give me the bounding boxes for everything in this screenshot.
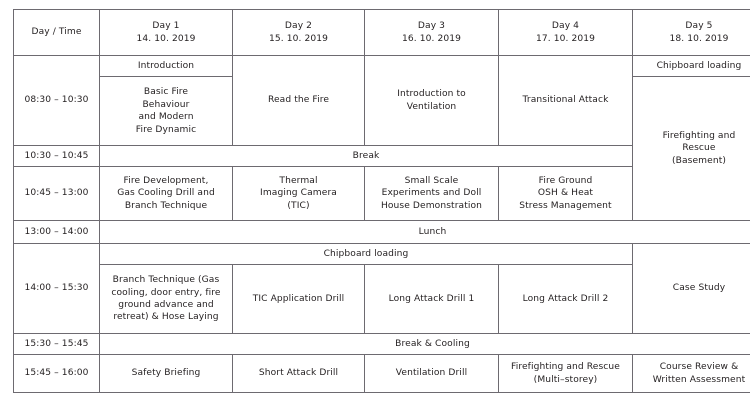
- row-1545-1600: 15:45 – 16:00 Safety Briefing Short Atta…: [14, 355, 750, 393]
- cell-text: Case Study: [673, 283, 725, 293]
- cell-day1-safety-briefing: Safety Briefing: [100, 355, 233, 393]
- schedule-container: Day / Time Day 1 14. 10. 2019 Day 2 15. …: [13, 9, 737, 393]
- cell-day3-small-scale-experiments: Small ScaleExperiments and DollHouse Dem…: [365, 167, 499, 221]
- day-3-name: Day 3: [368, 20, 495, 32]
- day-1-name: Day 1: [103, 20, 229, 32]
- cell-day2-thermal-imaging-camera: ThermalImaging Camera(TIC): [233, 167, 365, 221]
- cell-day4-long-attack-drill-2: Long Attack Drill 2: [499, 264, 633, 333]
- training-schedule-table: Day / Time Day 1 14. 10. 2019 Day 2 15. …: [13, 9, 750, 393]
- header-day-5: Day 5 18. 10. 2019: [633, 10, 750, 56]
- time-label: 14:00 – 15:30: [24, 283, 88, 293]
- cell-text: Chipboard loading: [657, 61, 742, 71]
- cell-text: Introduction toVentilation: [397, 89, 466, 111]
- row-lunch-1300-1400: 13:00 – 14:00 Lunch: [14, 220, 750, 243]
- cell-text: Course Review &Written Assessment: [653, 362, 746, 384]
- cell-day2-short-attack-drill: Short Attack Drill: [233, 355, 365, 393]
- cell-chipboard-loading-pm: Chipboard loading: [100, 243, 633, 264]
- cell-text: Chipboard loading: [324, 249, 409, 259]
- cell-text: Fire Development,Gas Cooling Drill andBr…: [117, 176, 215, 211]
- time-label: 15:45 – 16:00: [24, 368, 88, 378]
- time-label: 10:30 – 10:45: [24, 151, 88, 161]
- cell-day3-introduction-to-ventilation: Introduction toVentilation: [365, 56, 499, 146]
- cell-text: Break: [353, 151, 380, 161]
- time-lunch-1300-1400: 13:00 – 14:00: [14, 220, 100, 243]
- day-5-date: 18. 10. 2019: [636, 33, 750, 45]
- day-2-name: Day 2: [236, 20, 361, 32]
- time-slot-1400-1530: 14:00 – 15:30: [14, 243, 100, 333]
- cell-day5-chipboard-loading-am: Chipboard loading: [633, 56, 750, 77]
- row-morning-intro-band: 08:30 – 10:30 Introduction Read the Fire…: [14, 56, 750, 77]
- corner-label: Day / Time: [31, 27, 81, 37]
- cell-text: Basic FireBehaviourand ModernFire Dynami…: [136, 87, 196, 134]
- cell-day4-transitional-attack: Transitional Attack: [499, 56, 633, 146]
- cell-lunch: Lunch: [100, 220, 750, 243]
- cell-day1-fire-development: Fire Development,Gas Cooling Drill andBr…: [100, 167, 233, 221]
- cell-text: Long Attack Drill 1: [389, 294, 475, 304]
- cell-day5-firefighting-rescue-basement: Firefighting andRescue(Basement): [633, 77, 750, 221]
- cell-day3-ventilation-drill: Ventilation Drill: [365, 355, 499, 393]
- time-label: 13:00 – 14:00: [24, 227, 88, 237]
- cell-text: Short Attack Drill: [259, 368, 338, 378]
- header-day-3: Day 3 16. 10. 2019: [365, 10, 499, 56]
- time-label: 15:30 – 15:45: [24, 339, 88, 349]
- cell-text: Ventilation Drill: [396, 368, 467, 378]
- cell-day5-case-study: Case Study: [633, 243, 750, 333]
- cell-text: Transitional Attack: [523, 95, 609, 105]
- cell-text: Break & Cooling: [395, 339, 470, 349]
- cell-text: Fire GroundOSH & HeatStress Management: [519, 176, 611, 211]
- cell-text: Lunch: [419, 227, 447, 237]
- time-slot-1045-1300: 10:45 – 13:00: [14, 167, 100, 221]
- header-day-4: Day 4 17. 10. 2019: [499, 10, 633, 56]
- cell-break-morning: Break: [100, 146, 633, 167]
- cell-day4-fire-ground-osh: Fire GroundOSH & HeatStress Management: [499, 167, 633, 221]
- cell-day1-branch-technique: Branch Technique (Gascooling, door entry…: [100, 264, 233, 333]
- cell-day1-basic-fire-behaviour: Basic FireBehaviourand ModernFire Dynami…: [100, 77, 233, 146]
- cell-day2-tic-application-drill: TIC Application Drill: [233, 264, 365, 333]
- cell-text: ThermalImaging Camera(TIC): [260, 176, 337, 211]
- cell-day3-long-attack-drill-1: Long Attack Drill 1: [365, 264, 499, 333]
- time-break-1030-1045: 10:30 – 10:45: [14, 146, 100, 167]
- day-2-date: 15. 10. 2019: [236, 33, 361, 45]
- time-slot-1545-1600: 15:45 – 16:00: [14, 355, 100, 393]
- cell-break-and-cooling: Break & Cooling: [100, 334, 750, 355]
- cell-text: Read the Fire: [268, 95, 329, 105]
- day-1-date: 14. 10. 2019: [103, 33, 229, 45]
- cell-day4-firefighting-rescue-multistorey: Firefighting and Rescue(Multi–storey): [499, 355, 633, 393]
- cell-day5-course-review: Course Review &Written Assessment: [633, 355, 750, 393]
- cell-text: Firefighting andRescue(Basement): [663, 131, 736, 166]
- cell-day1-introduction: Introduction: [100, 56, 233, 77]
- header-day-1: Day 1 14. 10. 2019: [100, 10, 233, 56]
- cell-text: Small ScaleExperiments and DollHouse Dem…: [381, 176, 482, 211]
- day-3-date: 16. 10. 2019: [368, 33, 495, 45]
- day-5-name: Day 5: [636, 20, 750, 32]
- header-day-2: Day 2 15. 10. 2019: [233, 10, 365, 56]
- day-4-name: Day 4: [502, 20, 629, 32]
- time-slot-0830-1030: 08:30 – 10:30: [14, 56, 100, 146]
- row-chipboard-band-pm: 14:00 – 15:30 Chipboard loading Case Stu…: [14, 243, 750, 264]
- header-corner-day-time: Day / Time: [14, 10, 100, 56]
- time-break-1530-1545: 15:30 – 15:45: [14, 334, 100, 355]
- time-label: 08:30 – 10:30: [24, 95, 88, 105]
- cell-text: TIC Application Drill: [253, 294, 345, 304]
- row-break-1530-1545: 15:30 – 15:45 Break & Cooling: [14, 334, 750, 355]
- cell-text: Firefighting and Rescue(Multi–storey): [511, 362, 620, 384]
- cell-text: Introduction: [138, 61, 194, 71]
- table-header-row: Day / Time Day 1 14. 10. 2019 Day 2 15. …: [14, 10, 750, 56]
- time-label: 10:45 – 13:00: [24, 188, 88, 198]
- cell-text: Long Attack Drill 2: [523, 294, 609, 304]
- cell-text: Safety Briefing: [132, 368, 201, 378]
- cell-text: Branch Technique (Gascooling, door entry…: [111, 275, 220, 322]
- cell-day2-read-the-fire: Read the Fire: [233, 56, 365, 146]
- day-4-date: 17. 10. 2019: [502, 33, 629, 45]
